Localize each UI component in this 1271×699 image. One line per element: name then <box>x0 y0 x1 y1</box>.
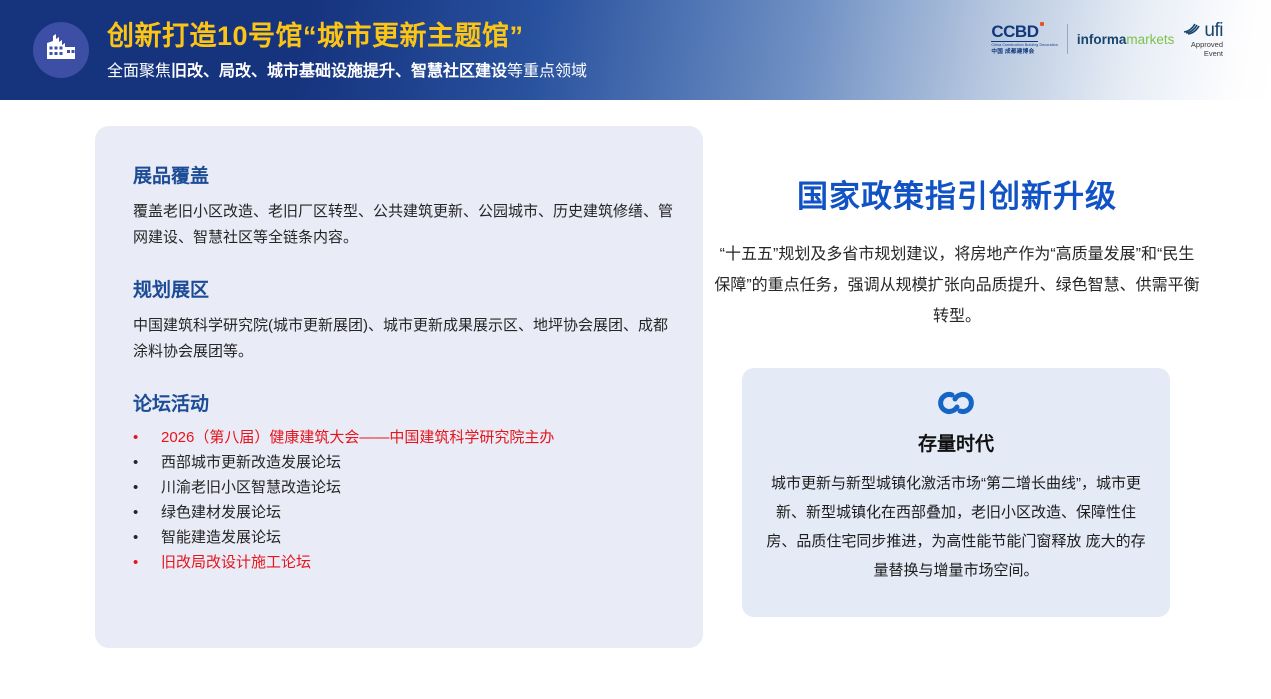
header-subtitle-lead: 全面聚焦 <box>107 63 171 80</box>
list-item-label: 绿色建材发展论坛 <box>161 500 281 525</box>
list-item[interactable]: • 绿色建材发展论坛 <box>133 500 675 525</box>
forum-list: • 2026（第八届）健康建筑大会——中国建筑科学研究院主办 • 西部城市更新改… <box>133 425 675 575</box>
card-title: 存量时代 <box>764 431 1148 459</box>
logo-divider <box>1067 24 1068 54</box>
section-heading: 展品覆盖 <box>133 164 675 190</box>
ufi-wordmark: ufi <box>1204 21 1223 40</box>
header-subtitle-tail: 等重点领域 <box>507 63 587 80</box>
section-body: 中国建筑科学研究院(城市更新展团)、城市更新成果展示区、地坪协会展团、成都涂料协… <box>133 313 675 365</box>
markets-word: markets <box>1126 32 1174 47</box>
section-forum-activities: 论坛活动 • 2026（第八届）健康建筑大会——中国建筑科学研究院主办 • 西部… <box>133 392 675 575</box>
ufi-approved-event-logo: ufi Approved Event <box>1183 21 1223 58</box>
header-text-block: 创新打造10号馆“城市更新主题馆” 全面聚焦旧改、局改、城市基础设施提升、智慧社… <box>107 18 587 83</box>
section-exhibit-coverage: 展品覆盖 覆盖老旧小区改造、老旧厂区转型、公共建筑更新、公园城市、历史建筑修缮、… <box>133 164 675 251</box>
header-icon-circle <box>33 22 89 78</box>
informa-word: informa <box>1077 32 1127 47</box>
list-item[interactable]: • 2026（第八届）健康建筑大会——中国建筑科学研究院主办 <box>133 425 675 450</box>
chain-link-icon <box>935 386 977 425</box>
bullet-icon: • <box>133 450 161 475</box>
factory-building-icon <box>45 34 77 67</box>
page-title: 国家政策指引创新升级 <box>714 175 1200 219</box>
bullet-icon: • <box>133 475 161 500</box>
ufi-event-label: Event <box>1204 49 1223 58</box>
ufi-approved-label: Approved <box>1191 40 1223 49</box>
ccbd-subtitle-cn: 中国 成都建博会 <box>991 49 1034 56</box>
card-body: 城市更新与新型城镇化激活市场“第二增长曲线”，城市更新、新型城镇化在西部叠加，老… <box>764 469 1148 585</box>
header-subtitle-bold: 旧改、局改、城市基础设施提升、智慧社区建设 <box>171 63 507 80</box>
list-item-label: 智能建造发展论坛 <box>161 525 281 550</box>
slide-root: 创新打造10号馆“城市更新主题馆” 全面聚焦旧改、局改、城市基础设施提升、智慧社… <box>0 0 1271 699</box>
stock-era-card: 存量时代 城市更新与新型城镇化激活市场“第二增长曲线”，城市更新、新型城镇化在西… <box>742 368 1170 617</box>
section-heading: 规划展区 <box>133 278 675 304</box>
policy-paragraph: “十五五”规划及多省市规划建议，将房地产作为“高质量发展”和“民生保障”的重点任… <box>714 239 1200 332</box>
ccbd-registered-dot <box>1040 22 1044 26</box>
ufi-mark-row: ufi <box>1183 21 1223 40</box>
ufi-swoosh-icon <box>1183 21 1203 40</box>
card-icon-wrap <box>764 386 1148 425</box>
header-title: 创新打造10号馆“城市更新主题馆” <box>107 18 587 54</box>
header-banner: 创新打造10号馆“城市更新主题馆” 全面聚焦旧改、局改、城市基础设施提升、智慧社… <box>0 0 1271 100</box>
list-item[interactable]: • 西部城市更新改造发展论坛 <box>133 450 675 475</box>
list-item[interactable]: • 智能建造发展论坛 <box>133 525 675 550</box>
section-body: 覆盖老旧小区改造、老旧厂区转型、公共建筑更新、公园城市、历史建筑修缮、管网建设、… <box>133 199 675 251</box>
header-subtitle: 全面聚焦旧改、局改、城市基础设施提升、智慧社区建设等重点领域 <box>107 61 587 83</box>
list-item-label: 2026（第八届）健康建筑大会——中国建筑科学研究院主办 <box>161 425 554 450</box>
partner-logos: CCBD China Construction Building Decorat… <box>991 20 1223 58</box>
ccbd-wordmark: CCBD <box>991 23 1038 42</box>
list-item[interactable]: • 川渝老旧小区智慧改造论坛 <box>133 475 675 500</box>
ccbd-logo: CCBD China Construction Building Decorat… <box>991 23 1058 56</box>
bullet-icon: • <box>133 425 161 450</box>
list-item-label: 旧改局改设计施工论坛 <box>161 550 311 575</box>
list-item-label: 川渝老旧小区智慧改造论坛 <box>161 475 341 500</box>
bullet-icon: • <box>133 525 161 550</box>
forum-heading: 论坛活动 <box>133 392 675 418</box>
ccbd-wordmark-text: CCBD <box>991 22 1038 41</box>
bullet-icon: • <box>133 550 161 575</box>
left-panel-inner: 展品覆盖 覆盖老旧小区改造、老旧厂区转型、公共建筑更新、公园城市、历史建筑修缮、… <box>95 126 703 575</box>
list-item-label: 西部城市更新改造发展论坛 <box>161 450 341 475</box>
list-item[interactable]: • 旧改局改设计施工论坛 <box>133 550 675 575</box>
right-content-column: 国家政策指引创新升级 “十五五”规划及多省市规划建议，将房地产作为“高质量发展”… <box>714 175 1200 332</box>
left-content-panel: 展品覆盖 覆盖老旧小区改造、老旧厂区转型、公共建筑更新、公园城市、历史建筑修缮、… <box>95 126 703 648</box>
informa-markets-logo: informamarkets <box>1077 32 1175 47</box>
ccbd-subtitle-en: China Construction Building Decoration <box>991 43 1058 48</box>
section-planned-zones: 规划展区 中国建筑科学研究院(城市更新展团)、城市更新成果展示区、地坪协会展团、… <box>133 278 675 365</box>
bullet-icon: • <box>133 500 161 525</box>
